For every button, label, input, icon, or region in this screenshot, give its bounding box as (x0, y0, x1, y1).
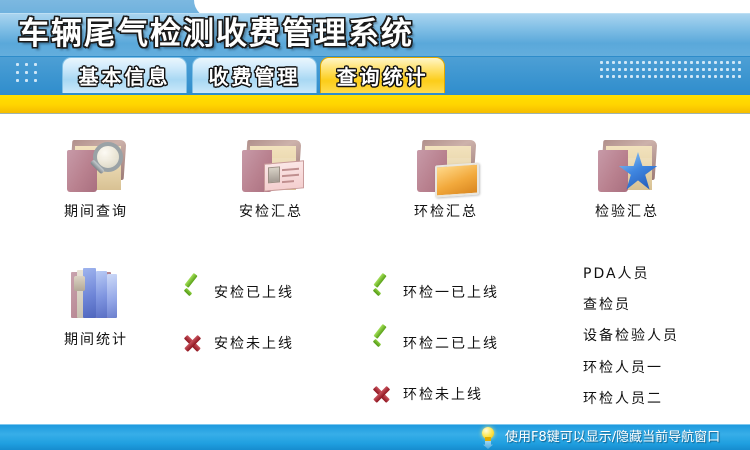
decor-dot (666, 75, 669, 78)
green-check-icon (371, 282, 393, 302)
folder-star-icon (594, 136, 660, 198)
decor-dot (624, 75, 627, 78)
personnel-item-pda[interactable]: PDA人员 (583, 263, 650, 283)
green-check-icon (371, 333, 393, 353)
decor-dot (738, 68, 741, 71)
decor-dot (726, 75, 729, 78)
decor-dot (726, 61, 729, 64)
status-safety-offline: 安检未上线 (182, 333, 294, 353)
tab-query-statistics[interactable]: 查询统计 (320, 57, 445, 93)
decor-dot (16, 63, 19, 66)
decor-dot (660, 68, 663, 71)
decor-dot (600, 75, 603, 78)
status-label: 环检一已上线 (403, 282, 499, 302)
shortcut-label: 环检汇总 (386, 201, 506, 221)
decor-dot (708, 68, 711, 71)
decor-dot (618, 75, 621, 78)
personnel-item-env-inspector-1[interactable]: 环检人员一 (583, 357, 663, 377)
decor-dot (642, 68, 645, 71)
decor-dot (702, 68, 705, 71)
decor-dot (696, 68, 699, 71)
screen-glyph (435, 162, 479, 197)
lightbulb-icon (481, 427, 495, 449)
accent-bar (0, 95, 750, 114)
status-hint: 使用F8键可以显示/隐藏当前导航窗口 (505, 429, 720, 447)
decor-dot (678, 61, 681, 64)
decor-dot (606, 75, 609, 78)
personnel-item-env-inspector-2[interactable]: 环检人员二 (583, 388, 663, 408)
decor-dot (25, 79, 28, 82)
shortcut-label: 检验汇总 (567, 201, 687, 221)
app-header: 车辆尾气检测收费管理系统 基本信息 收费管理 查询统计 (0, 0, 750, 95)
decor-dot (708, 75, 711, 78)
decor-dot (690, 61, 693, 64)
decor-dot (618, 61, 621, 64)
decor-dot (648, 68, 651, 71)
dot-grid-left-icon (16, 63, 46, 87)
decor-dot (684, 75, 687, 78)
id-card-glyph (264, 160, 304, 191)
decor-dot (732, 68, 735, 71)
shortcut-label: 安检汇总 (211, 201, 331, 221)
decor-dot (642, 75, 645, 78)
decor-dot (666, 61, 669, 64)
folder-screen-icon (413, 136, 479, 198)
personnel-item-equipment-inspector[interactable]: 设备检验人员 (583, 325, 679, 345)
decor-dot (714, 68, 717, 71)
decor-dot (726, 68, 729, 71)
decor-dot (732, 75, 735, 78)
decor-dot (624, 68, 627, 71)
status-env-2-online: 环检二已上线 (371, 333, 499, 353)
folder-card-icon (238, 136, 304, 198)
folder-magnifier-icon (63, 136, 129, 198)
shortcut-period-statistics[interactable]: 期间统计 (36, 264, 156, 349)
page-title: 车辆尾气检测收费管理系统 (18, 13, 414, 55)
decor-dot (702, 61, 705, 64)
decor-dot (666, 68, 669, 71)
red-cross-icon (182, 333, 204, 353)
decor-dot (738, 61, 741, 64)
decor-dot (720, 61, 723, 64)
decor-dot (672, 61, 675, 64)
decor-dot (606, 68, 609, 71)
decor-dot (612, 61, 615, 64)
decor-dot (606, 61, 609, 64)
red-cross-icon (371, 384, 393, 404)
decor-dot (25, 71, 28, 74)
main-content: 期间查询 安检汇总 环检汇总 (0, 114, 750, 424)
decor-dot (630, 68, 633, 71)
tab-fee-management[interactable]: 收费管理 (192, 57, 317, 93)
decor-dot (678, 75, 681, 78)
decor-dot (642, 61, 645, 64)
decor-dot (630, 61, 633, 64)
decor-dot (648, 61, 651, 64)
decor-dot (34, 63, 37, 66)
shortcut-label: 期间查询 (36, 201, 156, 221)
decor-dot (672, 68, 675, 71)
decor-dot (684, 68, 687, 71)
status-label: 安检已上线 (214, 282, 294, 302)
status-label: 环检未上线 (403, 384, 483, 404)
decor-dot (636, 75, 639, 78)
decor-dot (34, 71, 37, 74)
decor-dot (696, 75, 699, 78)
status-env-1-online: 环检一已上线 (371, 282, 499, 302)
decor-dot (702, 75, 705, 78)
decor-dot (648, 75, 651, 78)
decor-dot (624, 61, 627, 64)
decor-dot (696, 61, 699, 64)
status-bar: 使用F8键可以显示/隐藏当前导航窗口 (0, 424, 750, 450)
decor-dot (34, 79, 37, 82)
decor-dot (654, 61, 657, 64)
shortcut-label: 期间统计 (36, 329, 156, 349)
decor-dot (738, 75, 741, 78)
decor-dot (684, 61, 687, 64)
status-safety-online: 安检已上线 (182, 282, 294, 302)
decor-dot (672, 75, 675, 78)
decor-dot (636, 68, 639, 71)
shortcut-environment-summary[interactable]: 环检汇总 (386, 136, 506, 221)
decor-dot (612, 75, 615, 78)
decor-dot (732, 61, 735, 64)
decor-dot (654, 68, 657, 71)
shortcut-inspection-summary[interactable]: 检验汇总 (567, 136, 687, 221)
decor-dot (720, 75, 723, 78)
decor-dot (720, 68, 723, 71)
application-window: 车辆尾气检测收费管理系统 基本信息 收费管理 查询统计 期间查询 (0, 0, 750, 450)
decor-dot (660, 75, 663, 78)
shortcut-safety-summary[interactable]: 安检汇总 (211, 136, 331, 221)
status-label: 安检未上线 (214, 333, 294, 353)
decor-dot (714, 61, 717, 64)
decor-dot (600, 61, 603, 64)
green-check-icon (182, 282, 204, 302)
status-env-offline: 环检未上线 (371, 384, 483, 404)
status-label: 环检二已上线 (403, 333, 499, 353)
decor-dot (678, 68, 681, 71)
tab-basic-info[interactable]: 基本信息 (62, 57, 187, 93)
decor-dot (690, 75, 693, 78)
decor-dot (16, 79, 19, 82)
decor-dot (600, 68, 603, 71)
decor-dot (612, 68, 615, 71)
shortcut-period-query[interactable]: 期间查询 (36, 136, 156, 221)
decor-dot (690, 68, 693, 71)
dot-grid-right-icon (600, 61, 740, 87)
decor-dot (16, 71, 19, 74)
decor-dot (630, 75, 633, 78)
decor-dot (25, 63, 28, 66)
books-icon (63, 264, 129, 326)
decor-dot (618, 68, 621, 71)
decor-dot (714, 75, 717, 78)
personnel-item-inspector[interactable]: 查检员 (583, 294, 631, 314)
decor-dot (654, 75, 657, 78)
decor-dot (636, 61, 639, 64)
tab-bar: 基本信息 收费管理 查询统计 (0, 55, 750, 95)
decor-dot (660, 61, 663, 64)
decor-dot (708, 61, 711, 64)
